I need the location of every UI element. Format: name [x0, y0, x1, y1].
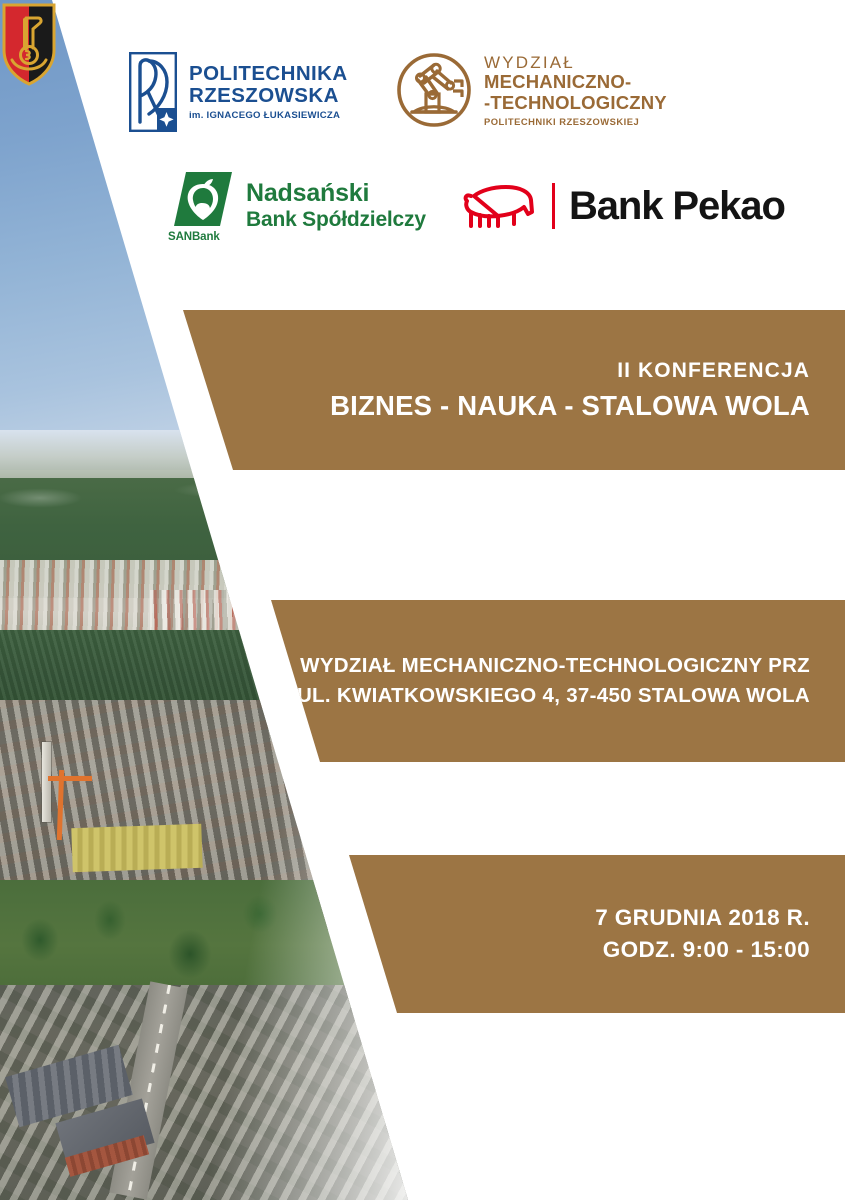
politechnika-line3: im. IGNACEGO ŁUKASIEWICZA [189, 110, 348, 121]
pr-monogram-icon [129, 52, 177, 132]
conference-poster: POLITECHNIKA RZESZOWSKA im. IGNACEGO ŁUK… [0, 0, 845, 1200]
photo-crane-jib [48, 776, 92, 781]
wydzial-line4: POLITECHNIKI RZESZOWSKIEJ [484, 116, 667, 127]
pekao-divider [552, 183, 555, 229]
bank-pekao-logo: Bank Pekao [462, 182, 785, 230]
politechnika-line1: POLITECHNIKA [189, 63, 348, 85]
politechnika-rzeszowska-logo: POLITECHNIKA RZESZOWSKA im. IGNACEGO ŁUK… [129, 52, 348, 132]
sponsor-logo-band: POLITECHNIKA RZESZOWSKA im. IGNACEGO ŁUK… [0, 0, 845, 270]
wydzial-mechaniczno-technologiczny-logo: WYDZIAŁ MECHANICZNO- -TECHNOLOGICZNY POL… [396, 50, 667, 130]
sanbank-wordmark: SANBank [166, 230, 222, 244]
nadsanski-bank-spoldzielczy-logo: SANBank Nadsański Bank Spółdzielczy [172, 170, 426, 242]
heraldic-shield-icon [0, 0, 58, 88]
photo-yellow-building [71, 824, 202, 873]
pekao-wordmark: Bank Pekao [569, 184, 785, 229]
wydzial-line3: -TECHNOLOGICZNY [484, 93, 667, 113]
sanbank-line2: Bank Spółdzielczy [246, 208, 426, 232]
politechnika-line2: RZESZOWSKA [189, 85, 348, 107]
faculty-shield-emblem [0, 0, 58, 88]
sanbank-line1: Nadsański [246, 180, 426, 208]
robot-arm-icon [396, 50, 474, 130]
photo-chimney [42, 742, 51, 822]
sanbank-apple-icon: SANBank [172, 170, 234, 242]
wydzial-line2: MECHANICZNO- [484, 72, 667, 92]
bison-icon [462, 182, 538, 230]
wydzial-line1: WYDZIAŁ [484, 53, 667, 72]
